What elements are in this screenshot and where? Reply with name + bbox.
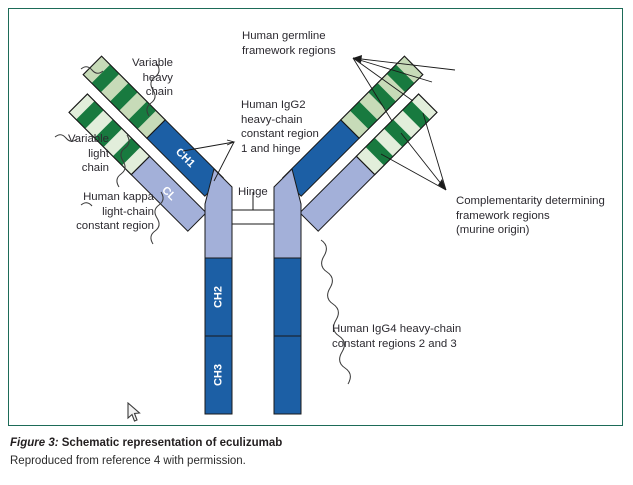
ch3-left-label: CH3 — [213, 364, 225, 386]
figure-frame: CH1 CL — [8, 8, 623, 426]
label-human-kappa-constant: Human kappa light-chain constant region — [29, 190, 154, 234]
ch3-right-segment — [274, 336, 301, 414]
ch2-right-segment — [274, 258, 301, 336]
igg4-brace — [321, 240, 350, 384]
label-cdr-murine: Complementarity determining framework re… — [456, 194, 605, 238]
figure-caption-title: Figure 3: Schematic representation of ec… — [10, 437, 282, 449]
label-human-germline: Human germline framework regions — [242, 29, 336, 58]
figure-caption-source: Reproduced from reference 4 with permiss… — [10, 455, 246, 467]
label-igg2-ch1-hinge: Human IgG2 heavy-chain constant region 1… — [241, 98, 319, 156]
figure-number: Figure 3: — [10, 437, 59, 449]
label-hinge: Hinge — [238, 185, 268, 200]
label-variable-heavy-chain: Variable heavy chain — [73, 56, 173, 100]
ch2-left-label: CH2 — [213, 286, 225, 308]
hinge-bridge — [232, 210, 274, 224]
label-igg4-ch2-ch3: Human IgG4 heavy-chain constant regions … — [332, 322, 461, 351]
figure-title-text: Schematic representation of eculizumab — [59, 437, 283, 449]
mouse-cursor — [127, 402, 141, 423]
label-variable-light-chain: Variable light chain — [19, 132, 109, 176]
